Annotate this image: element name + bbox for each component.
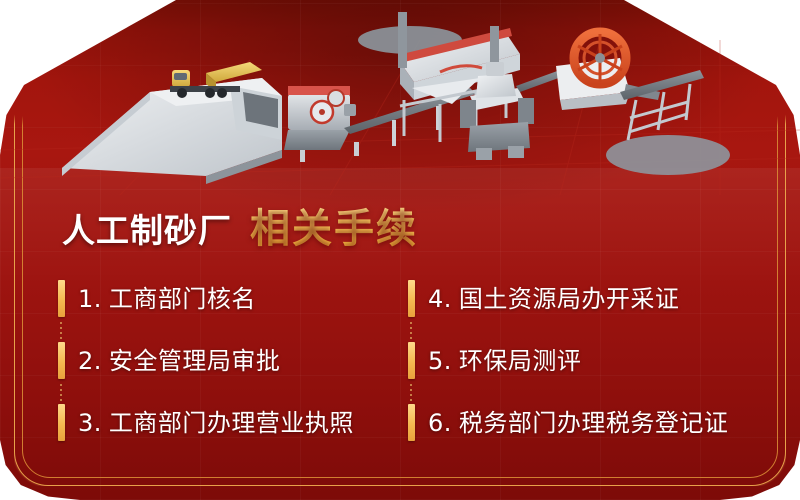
list-item[interactable]: 3. 工商部门办理营业执照 bbox=[58, 392, 408, 454]
bullet-bar-icon bbox=[58, 404, 65, 441]
belt-conveyor-washer bbox=[516, 70, 564, 92]
step-label: 工商部门办理营业执照 bbox=[109, 411, 354, 435]
feed-hopper-ramp bbox=[62, 78, 282, 184]
bullet-bar-icon bbox=[408, 404, 415, 441]
step-number: 5. bbox=[428, 349, 452, 373]
step-label: 环保局测评 bbox=[459, 349, 582, 373]
step-number: 4. bbox=[428, 287, 452, 311]
page-title: 人工制砂厂 相关手续 bbox=[62, 196, 418, 254]
list-item[interactable]: 2. 安全管理局审批 bbox=[58, 330, 408, 392]
step-number: 2. bbox=[78, 349, 102, 373]
steps-column-right: 4. 国土资源局办开采证 5. 环保局测评 6. 税务部门办理税务登记证 bbox=[408, 268, 758, 454]
step-label: 税务部门办理税务登记证 bbox=[459, 411, 729, 435]
step-label: 安全管理局审批 bbox=[109, 349, 281, 373]
step-number: 3. bbox=[78, 411, 102, 435]
list-item[interactable]: 1. 工商部门核名 bbox=[58, 268, 408, 330]
belt-conveyor-right bbox=[620, 70, 704, 140]
bullet-bar-icon bbox=[408, 342, 415, 379]
list-item[interactable]: 6. 税务部门办理税务登记证 bbox=[408, 392, 758, 454]
jaw-crusher bbox=[284, 86, 356, 150]
bullet-bar-icon bbox=[58, 342, 65, 379]
stockpile-right bbox=[606, 135, 730, 175]
sand-plant-svg bbox=[0, 0, 800, 195]
bucket-wheel-sand-washer bbox=[556, 32, 660, 110]
step-number: 1. bbox=[78, 287, 102, 311]
step-number: 6. bbox=[428, 411, 452, 435]
bullet-bar-icon bbox=[408, 280, 415, 317]
list-item[interactable]: 4. 国土资源局办开采证 bbox=[408, 268, 758, 330]
steps-column-left: 1. 工商部门核名 2. 安全管理局审批 3. 工商部门办理营业执照 bbox=[58, 268, 408, 454]
list-item[interactable]: 5. 环保局测评 bbox=[408, 330, 758, 392]
title-primary: 人工制砂厂 bbox=[62, 204, 232, 252]
poster-root: 人工制砂厂 相关手续 1. 工商部门核名 2. 安全管理局审批 3. 工商部门办… bbox=[0, 0, 800, 500]
bullet-bar-icon bbox=[58, 280, 65, 317]
steps-container: 1. 工商部门核名 2. 安全管理局审批 3. 工商部门办理营业执照 4. bbox=[58, 268, 758, 454]
step-label: 国土资源局办开采证 bbox=[459, 287, 680, 311]
title-highlight: 相关手续 bbox=[250, 196, 418, 254]
sand-plant-illustration bbox=[0, 0, 800, 195]
step-label: 工商部门核名 bbox=[109, 287, 256, 311]
